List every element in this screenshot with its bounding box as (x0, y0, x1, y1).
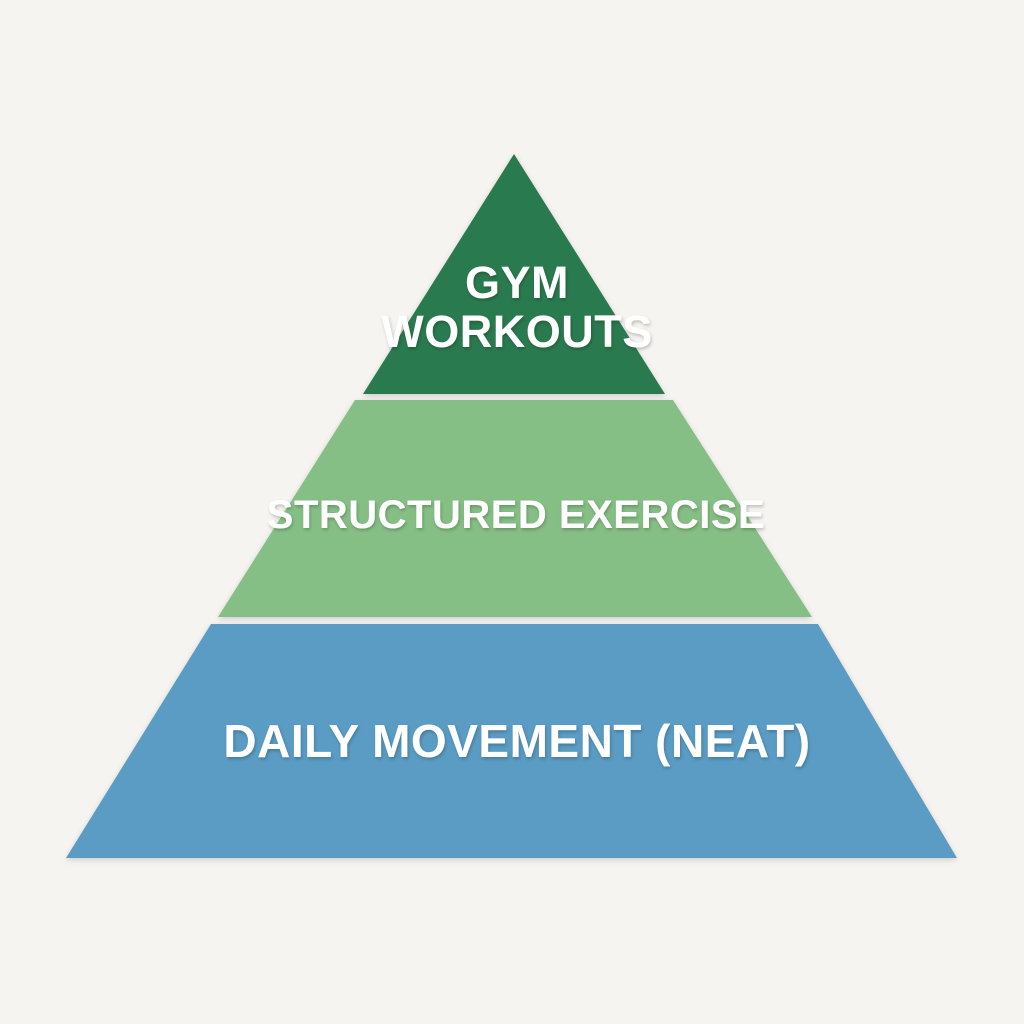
pyramid-tier-middle-label: STRUCTURED EXERCISE (267, 493, 765, 537)
pyramid-tier-top-label-line2: WORKOUTS (381, 306, 652, 357)
pyramid-diagram-canvas: GYM WORKOUTS STRUCTURED EXERCISE DAILY M… (0, 0, 1024, 1024)
pyramid-tier-bottom-label: DAILY MOVEMENT (NEAT) (223, 715, 810, 767)
pyramid-tier-bottom[interactable]: DAILY MOVEMENT (NEAT) (66, 624, 957, 858)
pyramid-tier-top[interactable]: GYM WORKOUTS (363, 154, 665, 394)
pyramid-tier-top-label-line1: GYM (465, 257, 569, 308)
pyramid-tier-middle[interactable]: STRUCTURED EXERCISE (218, 400, 812, 617)
pyramid-graphic: GYM WORKOUTS STRUCTURED EXERCISE DAILY M… (0, 0, 1024, 1024)
